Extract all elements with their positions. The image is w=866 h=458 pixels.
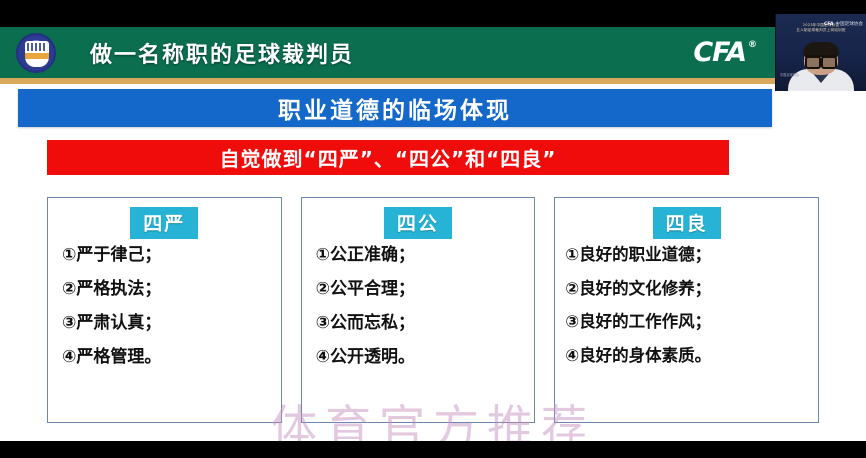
list-item: ①严于律己； xyxy=(62,247,281,264)
list-item: ③公而忘私； xyxy=(316,315,535,332)
video-cfa-logo: CFA中国足球协会 xyxy=(824,21,863,27)
video-ticker-text: 中国足球协会 xyxy=(780,72,799,77)
column-heading: 四公 xyxy=(384,207,452,239)
slide-header-band: 做一名称职的足球裁判员 CFA® xyxy=(0,27,866,78)
bottom-letterbox-bar xyxy=(0,441,866,458)
presentation-slide: 做一名称职的足球裁判员 CFA® 职业道德的临场体现 自觉做到“四严”、“四公”… xyxy=(0,27,866,441)
list-item: ①良好的职业道德； xyxy=(565,247,818,264)
screen-capture: 做一名称职的足球裁判员 CFA® 职业道德的临场体现 自觉做到“四严”、“四公”… xyxy=(0,0,866,458)
column-list: ①严于律己； ②严格执法； ③严肃认真； ④严格管理。 xyxy=(48,245,281,366)
content-columns: 四严 ①严于律己； ②严格执法； ③严肃认真； ④严格管理。 四公 ①公正准确；… xyxy=(47,197,819,423)
list-item: ④良好的身体素质。 xyxy=(565,348,818,365)
cfa-wordmark-text: CFA xyxy=(693,37,746,68)
video-logo-text: CFA xyxy=(824,22,833,27)
presenter-video-panel[interactable]: 2023年中国足球协会 五人制足球裁判员上岗培训班 CFA中国足球协会 中国足球… xyxy=(775,14,866,91)
cfa-wordmark: CFA® xyxy=(693,27,756,78)
blue-title-banner: 职业道德的临场体现 xyxy=(18,89,772,127)
column-si-yan: 四严 ①严于律己； ②严格执法； ③严肃认真； ④严格管理。 xyxy=(47,197,282,423)
page-title: 做一名称职的足球裁判员 xyxy=(90,27,354,78)
red-subtitle-banner: 自觉做到“四严”、“四公”和“四良” xyxy=(47,140,729,175)
list-item: ②良好的文化修养； xyxy=(565,281,818,298)
cfa-crest-icon xyxy=(16,33,56,73)
glasses-icon xyxy=(805,55,837,64)
video-caption-line-2: 五人制足球裁判员上岗培训班 xyxy=(776,28,866,33)
video-logo-subtext: 中国足球协会 xyxy=(835,22,863,27)
column-si-gong: 四公 ①公正准确； ②公平合理； ③公而忘私； ④公开透明。 xyxy=(301,197,536,423)
registered-mark-icon: ® xyxy=(748,40,756,50)
column-heading: 四严 xyxy=(130,207,198,239)
red-banner-text: 自觉做到“四严”、“四公”和“四良” xyxy=(220,143,557,172)
blue-banner-text: 职业道德的临场体现 xyxy=(278,91,512,125)
column-list: ①良好的职业道德； ②良好的文化修养； ③良好的工作作风； ④良好的身体素质。 xyxy=(555,245,818,364)
list-item: ①公正准确； xyxy=(316,247,535,264)
list-item: ②严格执法； xyxy=(62,281,281,298)
crest-texture xyxy=(27,43,47,51)
presenter-hair xyxy=(803,42,839,56)
column-heading: 四良 xyxy=(653,207,721,239)
list-item: ④公开透明。 xyxy=(316,349,535,366)
list-item: ②公平合理； xyxy=(316,281,535,298)
list-item: ④严格管理。 xyxy=(62,349,281,366)
list-item: ③良好的工作作风； xyxy=(565,314,818,331)
list-item: ③严肃认真； xyxy=(62,315,281,332)
column-si-liang: 四良 ①良好的职业道德； ②良好的文化修养； ③良好的工作作风； ④良好的身体素… xyxy=(554,197,819,423)
column-list: ①公正准确； ②公平合理； ③公而忘私； ④公开透明。 xyxy=(302,245,535,366)
